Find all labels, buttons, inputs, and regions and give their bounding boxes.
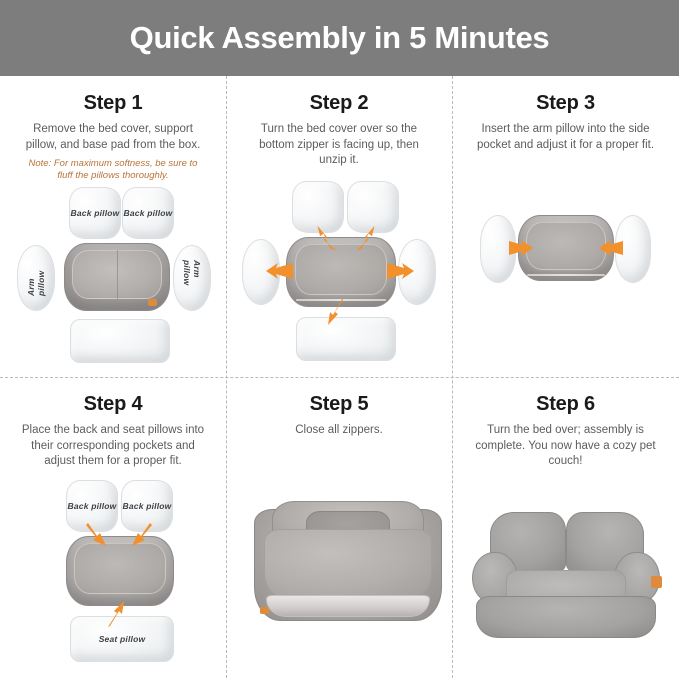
step-6-description: Turn the bed over; assembly is complete.…	[460, 423, 671, 470]
step-panel-1: Step 1 Remove the bed cover, support pil…	[0, 76, 226, 377]
arm-pillow-left: Arm pillow	[17, 245, 55, 311]
bed-cover-seam	[117, 250, 118, 299]
step-panel-2: Step 2 Turn the bed cover over so the bo…	[226, 76, 452, 377]
step-panel-3: Step 3 Insert the arm pillow into the si…	[452, 76, 679, 377]
step-6-title: Step 6	[460, 393, 671, 416]
step-4-illustration: Back pillow Back pillow Seat pillow	[8, 480, 218, 670]
horizontal-divider	[0, 377, 679, 378]
arm-pillow-right: Arm pillow	[173, 245, 211, 311]
back-pillow-left: Back pillow	[69, 187, 121, 239]
step-3-illustration	[460, 195, 671, 377]
bed-cover	[64, 243, 170, 311]
arrow-down-right-icon	[128, 522, 154, 548]
header-bar: Quick Assembly in 5 Minutes	[0, 0, 679, 76]
arrow-left-icon	[598, 237, 624, 259]
brand-tag	[148, 299, 157, 306]
arm-pillow-left-label: Arm pillow	[4, 260, 68, 296]
bed-cover-inner	[526, 222, 607, 269]
arrow-up-icon	[104, 600, 130, 628]
arrow-left-icon	[264, 259, 294, 283]
finished-pet-couch	[466, 504, 666, 654]
page-title: Quick Assembly in 5 Minutes	[130, 20, 550, 56]
bed-cover-flipped	[66, 536, 174, 606]
step-1-description: Remove the bed cover, support pillow, an…	[8, 122, 218, 153]
bed-bottom-zipper-trim	[266, 595, 430, 617]
step-5-illustration	[234, 487, 444, 677]
bottom-zipper	[527, 274, 606, 276]
steps-grid: Step 1 Remove the bed cover, support pil…	[0, 76, 679, 678]
step-4-description: Place the back and seat pillows into the…	[8, 423, 218, 470]
step-panel-6: Step 6 Turn the bed over; assembly is co…	[452, 377, 679, 678]
bed-cover-inner	[295, 244, 388, 294]
step-5-description: Close all zippers.	[234, 423, 444, 439]
arrow-up-left-icon	[312, 223, 340, 251]
step-5-title: Step 5	[234, 393, 444, 416]
step-1-note: Note: For maximum softness, be sure to f…	[8, 158, 218, 183]
step-1-title: Step 1	[8, 92, 218, 115]
step-3-description: Insert the arm pillow into the side pock…	[460, 122, 671, 153]
step-2-illustration	[234, 181, 444, 377]
base-pad	[70, 319, 170, 363]
step-4-title: Step 4	[8, 393, 218, 416]
step-1-illustration: Back pillow Back pillow Arm pillow Arm p…	[8, 183, 218, 377]
step-panel-4: Step 4 Place the back and seat pillows i…	[0, 377, 226, 678]
back-pillow-right-label: Back pillow	[123, 188, 173, 238]
step-2-title: Step 2	[234, 92, 444, 115]
step-2-description: Turn the bed cover over so the bottom zi…	[234, 122, 444, 169]
arrow-up-right-icon	[352, 223, 380, 251]
back-pillow-left-label: Back pillow	[70, 188, 120, 238]
arrow-right-icon	[508, 237, 534, 259]
back-pillow-right: Back pillow	[122, 187, 174, 239]
brand-tag	[651, 576, 662, 588]
arrow-down-icon	[322, 297, 350, 327]
step-3-title: Step 3	[460, 92, 671, 115]
arrow-down-left-icon	[84, 522, 110, 548]
bed-cover-inner	[74, 543, 165, 593]
couch-base	[476, 596, 656, 638]
assembled-bed-upside-down	[250, 487, 446, 637]
assembly-instruction-sheet: Quick Assembly in 5 Minutes Step 1 Remov…	[0, 0, 679, 678]
brand-tag	[260, 607, 269, 614]
arrow-right-icon	[386, 259, 416, 283]
bed-seat-face	[264, 529, 432, 599]
step-6-illustration	[460, 504, 671, 678]
step-panel-5: Step 5 Close all zippers.	[226, 377, 452, 678]
